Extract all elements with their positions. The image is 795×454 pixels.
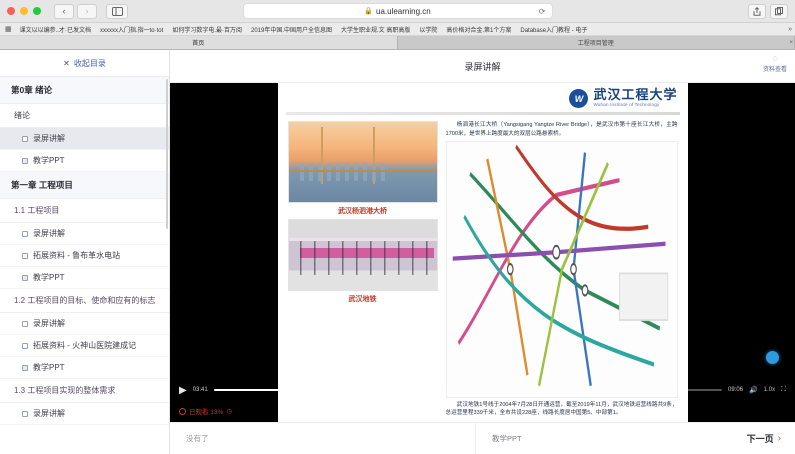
outline-item-label: 拓展资料 - 鲁布革水电站 bbox=[33, 250, 120, 261]
volume-icon[interactable]: 🔊 bbox=[749, 386, 758, 394]
cloud-icon: ◌ bbox=[772, 54, 777, 63]
outline-chapter[interactable]: 第0章 绪论 bbox=[0, 77, 169, 104]
progress-fill bbox=[214, 389, 280, 391]
tab-label: 工程项目管理 bbox=[578, 38, 614, 47]
link-icon bbox=[22, 343, 28, 349]
main-content: 录屏讲解 ◌ 资料查看 W 武汉工程大学 Wuhan Institute of … bbox=[170, 50, 795, 454]
window-traffic-lights bbox=[7, 7, 41, 15]
collapse-outline-label: 收起目录 bbox=[74, 58, 106, 69]
outline-section[interactable]: 绪论 bbox=[0, 104, 169, 128]
outline-item-ppt[interactable]: 教学PPT bbox=[0, 150, 169, 172]
prev-page-area[interactable]: 没有了 bbox=[170, 423, 476, 454]
metro-paragraph: 武汉地铁1号线于2004年7月28日开通运营，截至2019年11月，武汉地铁运营… bbox=[446, 401, 678, 418]
slide-right-column: 杨泗港长江大桥（Yangsigang Yangtze River Bridge）… bbox=[446, 121, 678, 418]
university-crest-icon: W bbox=[569, 89, 588, 108]
lock-icon: 🔒 bbox=[364, 7, 373, 15]
outline-item-ppt[interactable]: 教学PPT bbox=[0, 357, 169, 379]
toolbar-right-icons bbox=[748, 4, 788, 19]
bookmark-item[interactable]: Database入门教程 - 电子 bbox=[520, 25, 587, 34]
university-name-en: Wuhan Institute of Technology bbox=[593, 103, 677, 108]
outline-item-material[interactable]: 拓展资料 - 火神山医院建成记 bbox=[0, 335, 169, 357]
slide-frame: W 武汉工程大学 Wuhan Institute of Technology bbox=[278, 83, 688, 422]
next-page-target: 教学PPT bbox=[492, 433, 522, 444]
video-icon bbox=[22, 231, 28, 237]
fullscreen-icon[interactable]: ⛶ bbox=[781, 386, 786, 394]
tab-home[interactable]: 首页 bbox=[0, 36, 398, 49]
document-icon bbox=[22, 158, 28, 164]
current-time: 03:41 bbox=[193, 387, 208, 393]
slide-body: 武汉杨泗港大桥 武汉地铁 杨泗港长江大桥（Yangsigang Yangtze … bbox=[278, 115, 688, 422]
tab-label: 首页 bbox=[192, 38, 204, 47]
bridge-paragraph: 杨泗港长江大桥（Yangsigang Yangtze River Bridge）… bbox=[446, 121, 678, 138]
watched-progress: 已观看 13% ◷ bbox=[179, 406, 232, 416]
next-page-label: 下一页 bbox=[747, 432, 774, 445]
reload-icon[interactable]: ⟳ bbox=[539, 7, 546, 16]
university-name-cn: 武汉工程大学 bbox=[593, 89, 677, 103]
video-controls: ▶ 03:41 09:06 🔊 1.0x ⛶ bbox=[170, 380, 795, 400]
outline-item-label: 拓展资料 - 火神山医院建成记 bbox=[33, 340, 136, 351]
page-content: ✕ 收起目录 第0章 绪论 绪论 录屏讲解 教学PPT 第一章 工程项目 1.1… bbox=[0, 50, 795, 454]
url-text: ua.ulearning.cn bbox=[376, 7, 431, 16]
outline-item-ppt[interactable]: 教学PPT bbox=[0, 267, 169, 289]
bridge-caption: 武汉杨泗港大桥 bbox=[288, 206, 438, 216]
back-button[interactable]: ‹ bbox=[54, 4, 74, 19]
progress-ring-icon bbox=[179, 408, 186, 415]
video-icon bbox=[22, 321, 28, 327]
outline-item-label: 录屏讲解 bbox=[33, 408, 65, 419]
outline-chapter[interactable]: 第一章 工程项目 bbox=[0, 172, 169, 199]
sidebar-icon bbox=[112, 7, 123, 16]
outline-item-label: 录屏讲解 bbox=[33, 228, 65, 239]
watched-label: 已观看 13% bbox=[189, 406, 223, 416]
page-navigation-bar: 没有了 教学PPT 下一页 › bbox=[170, 422, 795, 454]
next-page-area: 教学PPT 下一页 › bbox=[476, 423, 795, 454]
metro-map-svg bbox=[447, 142, 677, 396]
outline-item-label: 教学PPT bbox=[33, 362, 65, 373]
bookmark-item[interactable]: 大学生职业规.文 高职高版 bbox=[341, 25, 410, 34]
browser-toolbar: ‹ › 🔒 ua.ulearning.cn ⟳ bbox=[0, 0, 795, 23]
outline-item-label: 录屏讲解 bbox=[33, 133, 65, 144]
bookmark-item[interactable]: 课文以以编参..才·已发文档 bbox=[20, 25, 91, 34]
materials-label: 资料查看 bbox=[763, 64, 787, 73]
playback-rate[interactable]: 1.0x bbox=[764, 387, 775, 393]
share-button[interactable] bbox=[748, 4, 766, 19]
navigation-buttons: ‹ › bbox=[54, 4, 97, 19]
back-icon: ‹ bbox=[63, 6, 66, 16]
forward-icon: › bbox=[86, 6, 89, 16]
slide-left-column: 武汉杨泗港大桥 武汉地铁 bbox=[288, 121, 438, 418]
outline-item-label: 教学PPT bbox=[33, 155, 65, 166]
materials-button[interactable]: ◌ 资料查看 bbox=[763, 54, 787, 73]
bookmark-item[interactable]: xxxxxx入门指.指一to·tot bbox=[100, 25, 163, 34]
duration: 09:06 bbox=[728, 387, 743, 393]
document-icon bbox=[22, 275, 28, 281]
outline-scrollbar[interactable] bbox=[166, 79, 168, 229]
bookmarks-overflow-button[interactable]: » bbox=[788, 26, 792, 33]
outline-item-recording[interactable]: 录屏讲解 bbox=[0, 313, 169, 335]
outline-section[interactable]: 1.1 工程项目 bbox=[0, 199, 169, 223]
outline-item-label: 录屏讲解 bbox=[33, 318, 65, 329]
link-icon bbox=[22, 253, 28, 259]
bookmark-item[interactable]: 2019年中国.中国用户全信息图 bbox=[251, 25, 332, 34]
outline-item-recording[interactable]: 录屏讲解 bbox=[0, 403, 169, 425]
progress-bar[interactable] bbox=[214, 389, 722, 391]
address-bar[interactable]: 🔒 ua.ulearning.cn ⟳ bbox=[243, 3, 553, 19]
forward-button[interactable]: › bbox=[77, 4, 97, 19]
next-page-button[interactable]: 下一页 › bbox=[747, 432, 781, 445]
close-tab-icon[interactable]: × bbox=[789, 40, 793, 46]
outline-section[interactable]: 1.2 工程项目的目标、使命和应有的标志 bbox=[0, 289, 169, 313]
video-player[interactable]: W 武汉工程大学 Wuhan Institute of Technology bbox=[170, 83, 795, 422]
metro-caption: 武汉地铁 bbox=[288, 294, 438, 304]
university-logo: W 武汉工程大学 Wuhan Institute of Technology bbox=[569, 89, 677, 108]
collapse-outline-button[interactable]: ✕ 收起目录 bbox=[0, 50, 169, 77]
play-icon[interactable]: ▶ bbox=[179, 385, 187, 396]
video-icon bbox=[22, 411, 28, 417]
sidebar-toggle-button[interactable] bbox=[106, 4, 128, 19]
skyline-graphic bbox=[300, 164, 389, 182]
close-window-button[interactable] bbox=[7, 7, 15, 15]
page-title: 录屏讲解 bbox=[464, 60, 500, 73]
outline-item-material[interactable]: 拓展资料 - 鲁布革水电站 bbox=[0, 245, 169, 267]
outline-item-label: 教学PPT bbox=[33, 272, 65, 283]
share-icon bbox=[753, 7, 761, 16]
tab-course[interactable]: 工程项目管理 bbox=[398, 36, 795, 49]
content-header: 录屏讲解 ◌ 资料查看 bbox=[170, 50, 795, 83]
bookmark-item[interactable]: 以学院 bbox=[419, 25, 437, 34]
metro-map-graphic bbox=[446, 141, 678, 397]
document-icon bbox=[22, 365, 28, 371]
apps-grid-icon[interactable]: ▦ bbox=[5, 26, 11, 33]
prev-page-label: 没有了 bbox=[186, 433, 209, 444]
progress-handle[interactable] bbox=[280, 387, 285, 392]
maximize-window-button[interactable] bbox=[33, 7, 41, 15]
slide-header: W 武汉工程大学 Wuhan Institute of Technology bbox=[278, 83, 688, 108]
bookmarks-bar: ▦ 课文以以编参..才·已发文档 xxxxxx入门指.指一to·tot 如何学习… bbox=[0, 23, 795, 36]
outline-section[interactable]: 1.3 工程项目实现的整体需求 bbox=[0, 379, 169, 403]
tabs-icon bbox=[775, 7, 783, 16]
outline-item-recording[interactable]: 录屏讲解 bbox=[0, 223, 169, 245]
bookmark-item[interactable]: 如何学习数字电.最·百万阅 bbox=[172, 25, 242, 34]
browser-window: ‹ › 🔒 ua.ulearning.cn ⟳ bbox=[0, 0, 795, 454]
university-name: 武汉工程大学 Wuhan Institute of Technology bbox=[593, 89, 677, 107]
show-tabs-button[interactable] bbox=[770, 4, 788, 19]
clock-icon: ◷ bbox=[226, 407, 232, 415]
course-outline-sidebar: ✕ 收起目录 第0章 绪论 绪论 录屏讲解 教学PPT 第一章 工程项目 1.1… bbox=[0, 50, 170, 454]
metro-photo bbox=[288, 219, 438, 291]
tab-strip: 首页 工程项目管理 × bbox=[0, 36, 795, 50]
minimize-window-button[interactable] bbox=[20, 7, 28, 15]
bridge-photo bbox=[288, 121, 438, 203]
close-icon: ✕ bbox=[63, 59, 70, 68]
chevron-right-icon: › bbox=[778, 433, 781, 444]
bookmark-item[interactable]: 高价格对合金.第1个方案 bbox=[446, 25, 511, 34]
outline-item-recording[interactable]: 录屏讲解 bbox=[0, 128, 169, 150]
cursor-highlight bbox=[766, 351, 779, 364]
video-icon bbox=[22, 136, 28, 142]
outline-list[interactable]: 第0章 绪论 绪论 录屏讲解 教学PPT 第一章 工程项目 1.1 工程项目 录… bbox=[0, 77, 169, 454]
